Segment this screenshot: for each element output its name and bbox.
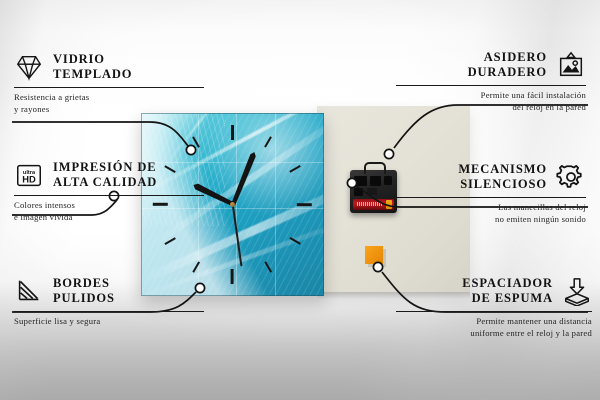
mechanism-hanger — [364, 162, 386, 174]
callout-subtitle: Permite una fácil instalación del reloj … — [396, 90, 586, 114]
callout-subtitle: Las manecillas del reloj no emiten ningú… — [396, 202, 586, 226]
callout-rule — [14, 195, 204, 196]
callout-title: ASIDERO DURADERO — [468, 50, 547, 81]
callout-impresion-alta-calidad[interactable]: ultra HD IMPRESIÓN DE ALTA CALIDAD Color… — [14, 160, 204, 224]
mechanism-detail — [354, 188, 363, 196]
callout-rule — [396, 311, 592, 312]
callout-title: VIDRIO TEMPLADO — [53, 52, 132, 83]
mechanism-detail — [384, 176, 392, 185]
callout-title: MECANISMO SILENCIOSO — [458, 162, 547, 193]
diamond-icon — [14, 52, 44, 82]
callout-title: BORDES PULIDOS — [53, 276, 115, 307]
callout-title: ESPACIADOR DE ESPUMA — [462, 276, 553, 307]
callout-header: VIDRIO TEMPLADO — [14, 52, 204, 83]
mechanism-detail — [367, 188, 377, 195]
foam-spacer — [365, 246, 383, 264]
gear-icon — [556, 162, 586, 192]
callout-espaciador-de-espuma[interactable]: ESPACIADOR DE ESPUMA Permite mantener un… — [396, 276, 592, 340]
callout-header: ultra HD IMPRESIÓN DE ALTA CALIDAD — [14, 160, 204, 191]
callout-header: BORDES PULIDOS — [14, 276, 204, 307]
callout-title: IMPRESIÓN DE ALTA CALIDAD — [53, 160, 157, 191]
callout-mecanismo-silencioso[interactable]: MECANISMO SILENCIOSO Las manecillas del … — [396, 162, 586, 226]
polished-edge-icon — [14, 276, 44, 306]
callout-subtitle: Permite mantener una distancia uniforme … — [396, 316, 592, 340]
battery — [353, 199, 394, 210]
clock-mechanism — [350, 170, 397, 213]
ultra-hd-icon: ultra HD — [14, 160, 44, 190]
wall-hanger-picture-icon — [556, 50, 586, 80]
callout-subtitle: Colores intensos e imagen vívida — [14, 200, 204, 224]
callout-rule — [14, 311, 204, 312]
callout-asidero-duradero[interactable]: ASIDERO DURADERO Permite una fácil insta… — [396, 50, 586, 114]
callout-header: MECANISMO SILENCIOSO — [396, 162, 586, 193]
callout-header: ESPACIADOR DE ESPUMA — [396, 276, 592, 307]
callout-rule — [396, 197, 586, 198]
callout-rule — [396, 85, 586, 86]
svg-text:HD: HD — [22, 175, 36, 185]
callout-subtitle: Resistencia a grietas y rayones — [14, 92, 204, 116]
callout-rule — [14, 87, 204, 88]
battery-label — [357, 202, 383, 206]
callout-bordes-pulidos[interactable]: BORDES PULIDOS Superficie lisa y segura — [14, 276, 204, 328]
foam-spacer-icon — [562, 276, 592, 306]
mechanism-detail — [354, 176, 367, 186]
callout-header: ASIDERO DURADERO — [396, 50, 586, 81]
infographic-canvas: VIDRIO TEMPLADO Resistencia a grietas y … — [0, 0, 600, 400]
mechanism-detail — [370, 176, 381, 186]
callout-vidrio-templado[interactable]: VIDRIO TEMPLADO Resistencia a grietas y … — [14, 52, 204, 116]
callout-subtitle: Superficie lisa y segura — [14, 316, 204, 328]
